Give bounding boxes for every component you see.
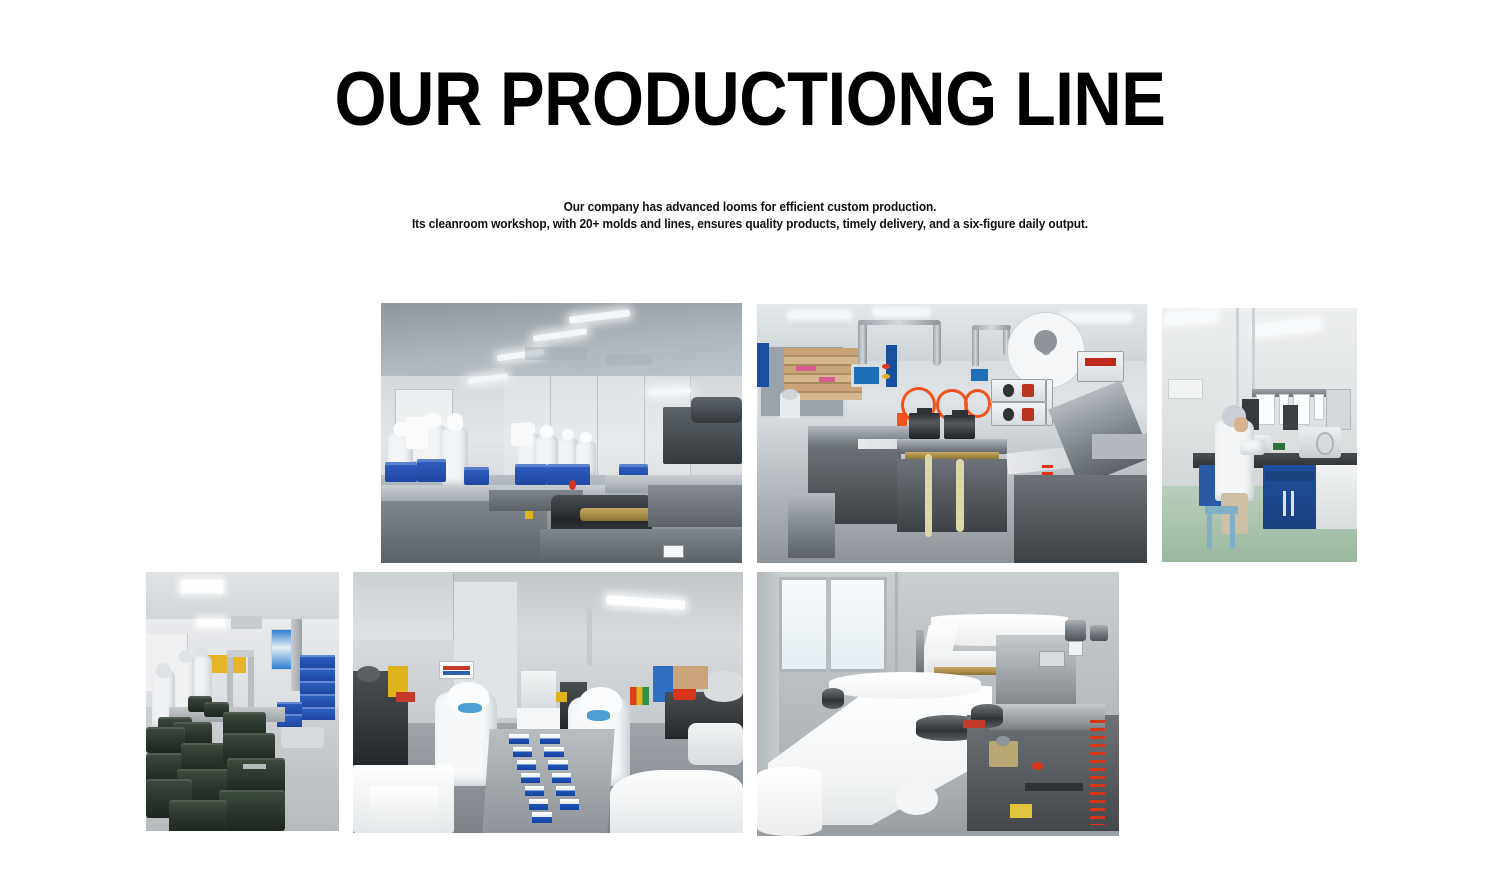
production-line-page: OUR PRODUCTIONG LINE Our company has adv… (0, 0, 1500, 883)
photo-laboratory-technician (1162, 308, 1357, 562)
photo-operators-inspecting-conveyor (353, 572, 743, 833)
page-title: OUR PRODUCTIONG LINE (90, 60, 1410, 140)
subtitle-line-2: Its cleanroom workshop, with 20+ molds a… (38, 215, 1463, 233)
photo-web-converting-machine (757, 572, 1119, 836)
subtitle-line-1: Our company has advanced looms for effic… (38, 198, 1463, 216)
photo-cleanroom-production-hall (381, 303, 742, 563)
photo-green-case-assembly-line (146, 572, 339, 831)
photo-packaging-machine (757, 304, 1147, 563)
